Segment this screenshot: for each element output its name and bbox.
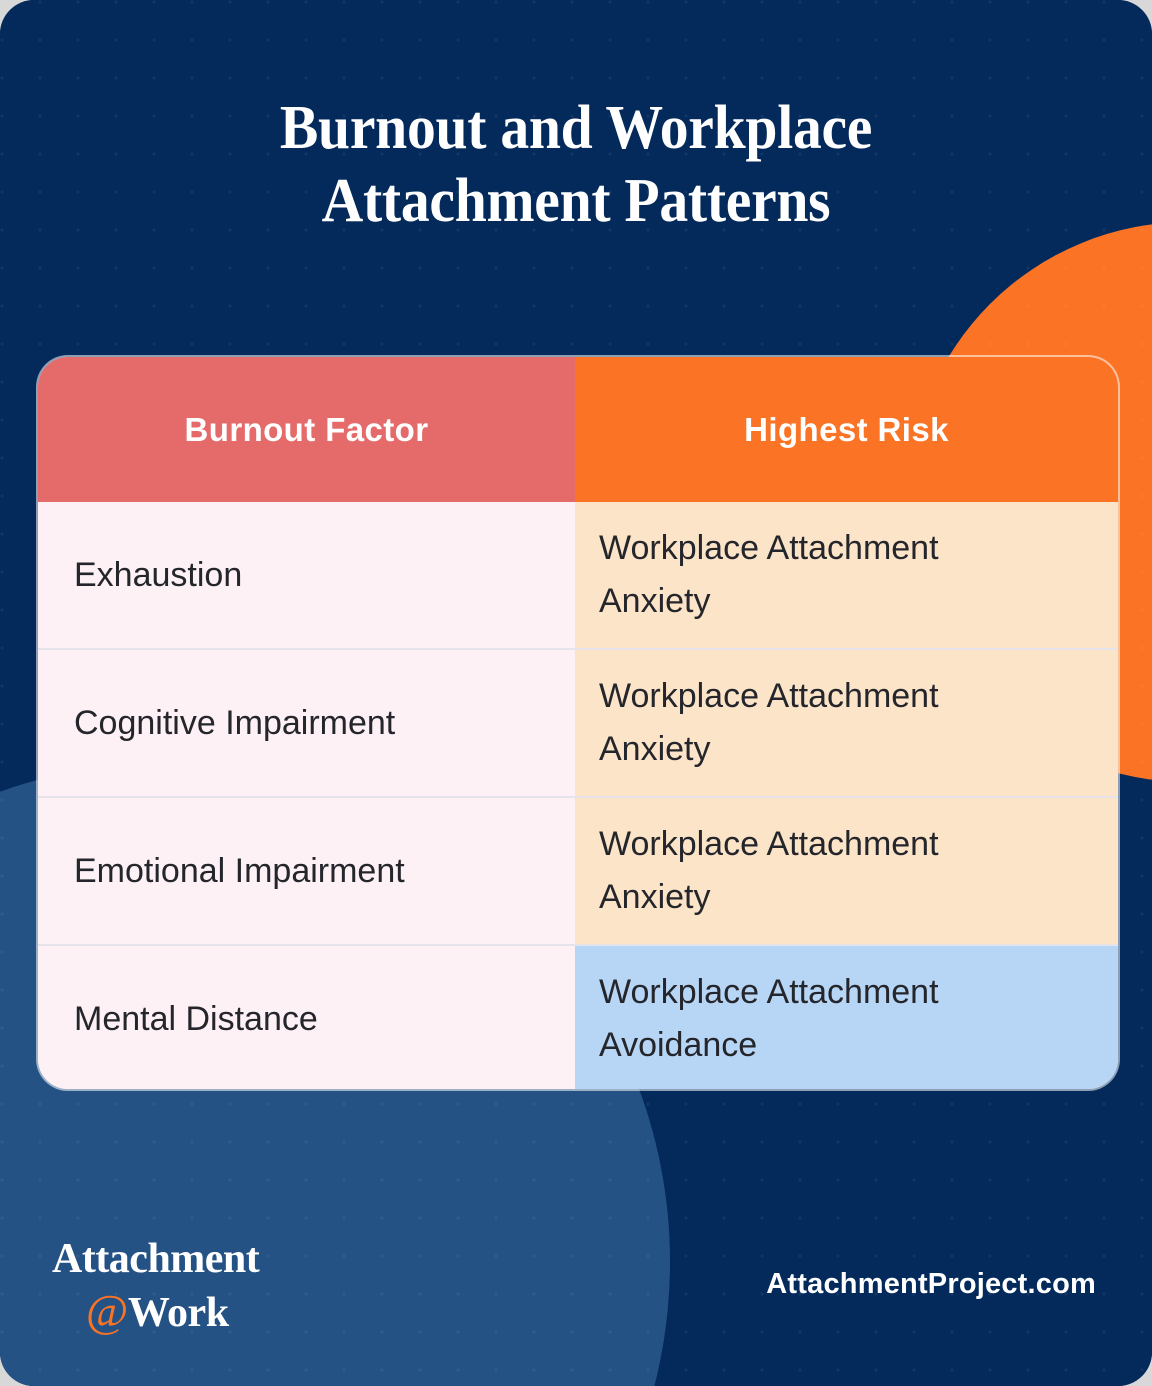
table-cell-factor: Mental Distance xyxy=(38,946,575,1089)
brand-logo: Attachment @Work xyxy=(52,1238,259,1334)
table-header-cell-highest-risk: Highest Risk xyxy=(575,357,1118,502)
page-title: Burnout and Workplace Attachment Pattern… xyxy=(40,92,1111,238)
brand-logo-line2: @Work xyxy=(52,1288,259,1334)
table-cell-factor: Emotional Impairment xyxy=(38,798,575,944)
infographic-poster: Burnout and Workplace Attachment Pattern… xyxy=(0,0,1152,1386)
risk-label: Workplace Attachment Anxiety xyxy=(599,522,1019,627)
risk-label: Workplace Attachment Avoidance xyxy=(599,966,1019,1071)
table-header-label-burnout-factor: Burnout Factor xyxy=(185,411,429,449)
comparison-table: Burnout Factor Highest Risk Exhaustion W… xyxy=(38,357,1118,1089)
brand-logo-work-label: Work xyxy=(128,1290,229,1336)
table-row: Emotional Impairment Workplace Attachmen… xyxy=(38,798,1118,944)
factor-label: Emotional Impairment xyxy=(58,850,405,893)
table-header-cell-burnout-factor: Burnout Factor xyxy=(38,357,575,502)
factor-label: Mental Distance xyxy=(58,998,318,1041)
risk-label: Workplace Attachment Anxiety xyxy=(599,818,1019,923)
table-cell-risk: Workplace Attachment Avoidance xyxy=(575,946,1118,1089)
risk-label: Workplace Attachment Anxiety xyxy=(599,670,1019,775)
table-row: Cognitive Impairment Workplace Attachmen… xyxy=(38,650,1118,796)
table-cell-factor: Cognitive Impairment xyxy=(38,650,575,796)
table-row-highlighted: Mental Distance Workplace Attachment Avo… xyxy=(38,946,1118,1089)
table-cell-factor: Exhaustion xyxy=(38,502,575,648)
table-header-label-highest-risk: Highest Risk xyxy=(744,411,949,449)
table-cell-risk: Workplace Attachment Anxiety xyxy=(575,650,1118,796)
at-sign-icon: @ xyxy=(86,1285,128,1336)
table-cell-risk: Workplace Attachment Anxiety xyxy=(575,502,1118,648)
table-header-row: Burnout Factor Highest Risk xyxy=(38,357,1118,502)
brand-logo-line1: Attachment xyxy=(52,1238,259,1280)
factor-label: Cognitive Impairment xyxy=(58,702,395,745)
table-row: Exhaustion Workplace Attachment Anxiety xyxy=(38,502,1118,648)
site-url[interactable]: AttachmentProject.com xyxy=(766,1268,1096,1301)
factor-label: Exhaustion xyxy=(58,554,242,597)
table-cell-risk: Workplace Attachment Anxiety xyxy=(575,798,1118,944)
